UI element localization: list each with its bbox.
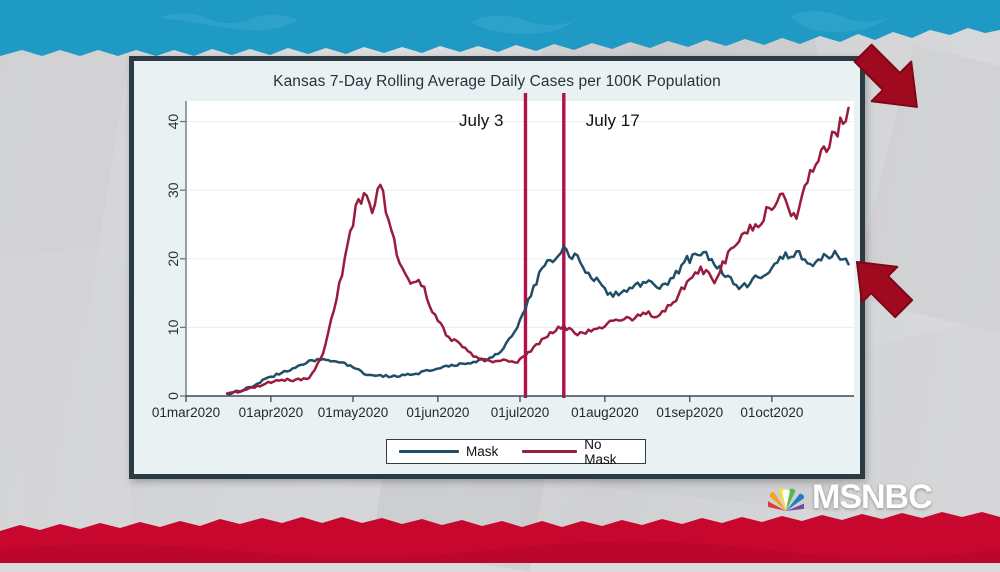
legend-swatch-mask — [399, 450, 459, 453]
svg-text:July 3: July 3 — [459, 111, 503, 130]
y-axis-ticks: 010203040 — [165, 114, 186, 400]
legend-swatch-no-mask — [522, 450, 577, 453]
broadcast-frame: Kansas 7-Day Rolling Average Daily Cases… — [0, 0, 1000, 563]
plot-background — [186, 101, 854, 396]
legend-item-mask[interactable]: Mask — [387, 444, 510, 459]
svg-text:10: 10 — [165, 319, 181, 335]
arrow-pointing-to-mask-line-end — [836, 248, 926, 329]
x-axis-ticks: 01mar202001apr202001may202001jun202001ju… — [152, 396, 804, 420]
svg-text:01jun2020: 01jun2020 — [406, 405, 469, 420]
svg-text:01oct2020: 01oct2020 — [740, 405, 803, 420]
svg-text:July 17: July 17 — [586, 111, 640, 130]
svg-text:40: 40 — [165, 114, 181, 130]
nbc-peacock-icon — [768, 481, 804, 515]
chart-svg: 010203040 01mar202001apr202001may202001j… — [134, 61, 860, 474]
legend-label-no-mask: No Mask — [584, 437, 633, 467]
chart-panel: Kansas 7-Day Rolling Average Daily Cases… — [129, 56, 865, 479]
svg-text:01aug2020: 01aug2020 — [571, 405, 639, 420]
svg-text:0: 0 — [165, 392, 181, 400]
msnbc-logo: MSNBC — [768, 478, 932, 517]
msnbc-wordmark: MSNBC — [812, 478, 932, 517]
svg-text:01mar2020: 01mar2020 — [152, 405, 220, 420]
plot-area: 010203040 01mar202001apr202001may202001j… — [134, 61, 860, 474]
svg-text:01may2020: 01may2020 — [318, 405, 389, 420]
svg-text:01apr2020: 01apr2020 — [239, 405, 304, 420]
arrow-pointing-to-no-mask-line-end — [836, 36, 944, 129]
svg-text:01jul2020: 01jul2020 — [491, 405, 550, 420]
svg-text:01sep2020: 01sep2020 — [656, 405, 723, 420]
svg-text:30: 30 — [165, 182, 181, 198]
legend-label-mask: Mask — [466, 444, 498, 459]
legend-item-no-mask[interactable]: No Mask — [510, 437, 645, 467]
chart-legend: Mask No Mask — [386, 439, 646, 464]
svg-text:20: 20 — [165, 251, 181, 267]
